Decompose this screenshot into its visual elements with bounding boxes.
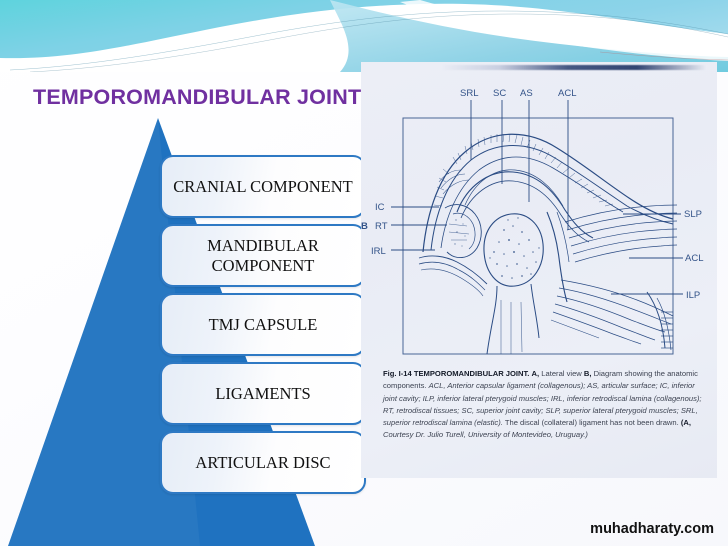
list-item-label: CRANIAL COMPONENT [167, 177, 359, 197]
figure-label-irl: IRL [371, 246, 386, 257]
list-item-label: ARTICULAR DISC [189, 453, 336, 473]
list-item-articular-disc[interactable]: ARTICULAR DISC [160, 431, 366, 494]
figure-label-acl-top: ACL [558, 88, 576, 99]
list-item-label: LIGAMENTS [209, 384, 316, 404]
list-item-mandibular-component[interactable]: MANDIBULAR COMPONENT [160, 224, 366, 287]
caption-part-b: B, [584, 369, 592, 378]
caption-credit: Courtesy Dr. Julio Turell, University of… [383, 430, 588, 439]
caption-part-a: A, [532, 369, 540, 378]
figure-label-rt: RT [375, 221, 388, 232]
figure-label-as: AS [520, 88, 533, 99]
figure-label-slp: SLP [684, 209, 702, 220]
caption-part-a-text: Lateral view [541, 369, 582, 378]
page-title: TEMPOROMANDIBULAR JOINT [33, 84, 363, 111]
figure-panel-marker-b: B [361, 221, 368, 232]
figure-label-sc: SC [493, 88, 506, 99]
figure-label-layer: SRL SC AS ACL IC RT IRL B SLP ACL ILP [361, 62, 717, 372]
caption-fig-number: Fig. I-14 [383, 369, 412, 378]
slide-canvas: TEMPOROMANDIBULAR JOINT CRANIAL COMPONEN… [0, 0, 728, 546]
site-watermark: muhadharaty.com [590, 521, 714, 537]
figure-caption: Fig. I-14 TEMPOROMANDIBULAR JOINT. A, La… [383, 368, 705, 442]
caption-fig-title: TEMPOROMANDIBULAR JOINT. [414, 369, 530, 378]
figure-label-ilp: ILP [686, 290, 700, 301]
caption-note: The discal (collateral) ligament has not… [505, 418, 679, 427]
list-item-label: MANDIBULAR COMPONENT [162, 236, 364, 276]
list-item-label: TMJ CAPSULE [203, 315, 324, 335]
list-item-ligaments[interactable]: LIGAMENTS [160, 362, 366, 425]
component-list: CRANIAL COMPONENT MANDIBULAR COMPONENT T… [160, 155, 366, 500]
list-item-cranial-component[interactable]: CRANIAL COMPONENT [160, 155, 366, 218]
figure-label-acl-right: ACL [685, 253, 703, 264]
anatomical-figure-panel: SRL SC AS ACL IC RT IRL B SLP ACL ILP Fi… [361, 62, 717, 478]
figure-label-srl: SRL [460, 88, 478, 99]
list-item-tmj-capsule[interactable]: TMJ CAPSULE [160, 293, 366, 356]
figure-label-ic: IC [375, 202, 385, 213]
caption-credit-marker: (A, [681, 418, 691, 427]
